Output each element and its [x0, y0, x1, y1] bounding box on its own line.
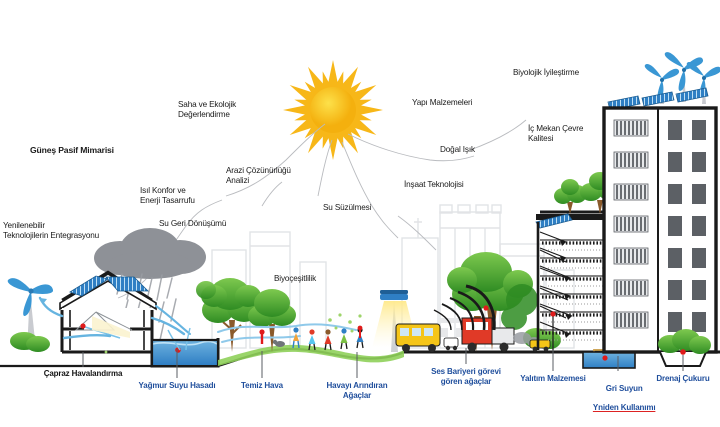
- sun-icon: [283, 60, 383, 160]
- small-car-icon: [530, 340, 550, 351]
- right-tower: [604, 52, 720, 352]
- greywater-tank: [583, 352, 635, 368]
- scene-artwork: [0, 0, 720, 427]
- infographic-canvas: Güneş Pasif Mimarisi Yenilenebilir Tekno…: [0, 0, 720, 427]
- wind-turbine-icon: [8, 278, 53, 352]
